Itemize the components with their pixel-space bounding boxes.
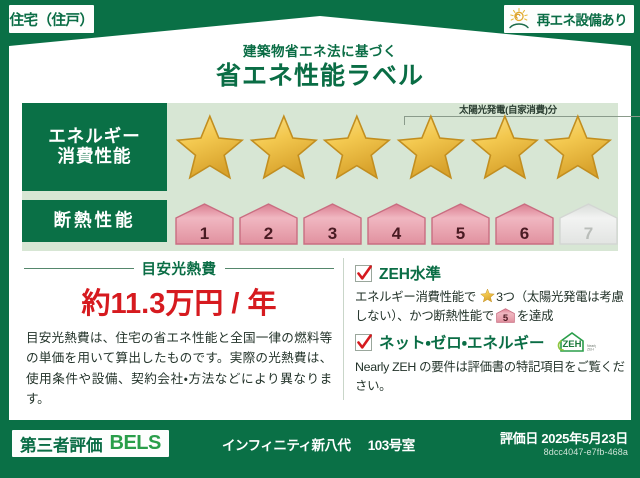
criterion-title: ネット・ゼロ・エネルギー bbox=[379, 331, 545, 353]
bels-logo: 第三者評価 BELS bbox=[12, 430, 169, 457]
inline-grade-value: 5 bbox=[496, 314, 515, 324]
star-icon bbox=[480, 288, 495, 303]
insulation-grade-badge: 3 bbox=[302, 202, 363, 246]
star-icon bbox=[469, 110, 541, 184]
renewable-equipment-tag: 再エネ設備あり bbox=[504, 5, 634, 33]
star-icon bbox=[248, 110, 320, 184]
star-icon bbox=[321, 110, 393, 184]
renewable-tag-label: 再エネ設備あり bbox=[537, 9, 627, 29]
bels-logo-en: BELS bbox=[110, 432, 161, 455]
criterion-zeh-level: ZEH水準 エネルギー消費性能で 3つ（太陽光発電は考慮しない）、かつ断熱性能で… bbox=[355, 262, 625, 327]
insulation-grade-value: 2 bbox=[264, 225, 273, 242]
insulation-grade-value: 7 bbox=[584, 225, 593, 242]
building-name: インフィニティ新八代 bbox=[222, 438, 351, 453]
criterion-net-zero-energy: ネット・ゼロ・エネルギー ZEH Nearly ZEH Nearly ZEH の… bbox=[355, 330, 625, 397]
evaluation-date-value: 2025年5月23日 bbox=[541, 431, 628, 446]
insulation-grade-value: 3 bbox=[328, 225, 337, 242]
evaluation-id: 8dcc4047-e7fb-468a bbox=[544, 447, 628, 457]
criterion-title: ZEH水準 bbox=[379, 262, 441, 284]
star-icon bbox=[174, 110, 246, 184]
check-icon bbox=[355, 334, 372, 351]
cost-note: 目安光熱費は、住宅の省エネ性能と全国一律の燃料等の単価を用いて算出したものです。… bbox=[26, 328, 332, 410]
insulation-grade-badge: 4 bbox=[366, 202, 427, 246]
evaluation-date-label: 評価日 bbox=[500, 431, 538, 446]
insulation-grade-scale: 1 2 3 4 bbox=[174, 196, 619, 246]
insulation-grade-value: 1 bbox=[200, 225, 209, 242]
insulation-grade-badge: 1 bbox=[174, 202, 235, 246]
cost-heading-row: 目安光熱費 bbox=[24, 258, 334, 279]
evaluation-date: 評価日 2025年5月23日 bbox=[500, 428, 628, 447]
criterion-body-pre: エネルギー消費性能で bbox=[355, 290, 476, 304]
divider-left bbox=[24, 268, 134, 270]
insulation-grade-value: 5 bbox=[456, 225, 465, 242]
building-info: インフィニティ新八代 103号室 bbox=[222, 434, 415, 454]
bels-energy-label: 住宅（住戸） 再エネ設備あり 建築物省エネ法に基づく 省 bbox=[0, 0, 640, 478]
energy-star-rating bbox=[174, 105, 614, 189]
cost-heading: 目安光熱費 bbox=[142, 258, 217, 279]
bels-logo-jp: 第三者評価 bbox=[20, 432, 103, 456]
page-title: 省エネ性能ラベル bbox=[0, 56, 640, 92]
criterion-body: エネルギー消費性能で 3つ（太陽光発電は考慮しない）、かつ断熱性能で 5 を達成 bbox=[355, 288, 625, 327]
energy-label-line2: 消費性能 bbox=[48, 147, 141, 167]
insulation-grade-badge: 2 bbox=[238, 202, 299, 246]
criterion-header: ZEH水準 bbox=[355, 262, 625, 284]
check-icon bbox=[355, 265, 372, 282]
criterion-body-post: を達成 bbox=[517, 309, 553, 323]
column-divider bbox=[343, 258, 344, 400]
star-icon bbox=[395, 110, 467, 184]
svg-text:ZEH: ZEH bbox=[587, 347, 594, 351]
criterion-header: ネット・ゼロ・エネルギー ZEH Nearly ZEH bbox=[355, 330, 625, 354]
insulation-grade-badge-inline: 5 bbox=[496, 308, 515, 323]
category-tag-label: 住宅（住戸） bbox=[10, 9, 94, 30]
energy-performance-label: エネルギー 消費性能 bbox=[22, 103, 167, 191]
insulation-grade-value: 4 bbox=[392, 225, 401, 242]
zeh-house-logo: ZEH Nearly ZEH bbox=[552, 330, 596, 354]
category-tag: 住宅（住戸） bbox=[9, 5, 94, 33]
insulation-grade-badge: 5 bbox=[430, 202, 491, 246]
room-number: 103号室 bbox=[368, 438, 415, 453]
insulation-grade-badge-inactive: 7 bbox=[558, 202, 619, 246]
performance-panel: エネルギー 消費性能 太陽光発電(自家消費)分 bbox=[22, 103, 618, 251]
svg-text:ZEH: ZEH bbox=[562, 339, 581, 350]
insulation-performance-label: 断熱性能 bbox=[22, 200, 167, 242]
star-icon bbox=[542, 110, 614, 184]
insulation-grade-value: 6 bbox=[520, 225, 529, 242]
insulation-grade-badge: 6 bbox=[494, 202, 555, 246]
criterion-body: Nearly ZEH の要件は評価書の特記項目をご覧ください。 bbox=[355, 358, 625, 397]
sun-icon bbox=[508, 7, 534, 31]
cost-value: 約11.3万円 / 年 bbox=[24, 280, 334, 322]
energy-label-line1: エネルギー bbox=[48, 127, 141, 147]
divider-right bbox=[225, 268, 335, 270]
